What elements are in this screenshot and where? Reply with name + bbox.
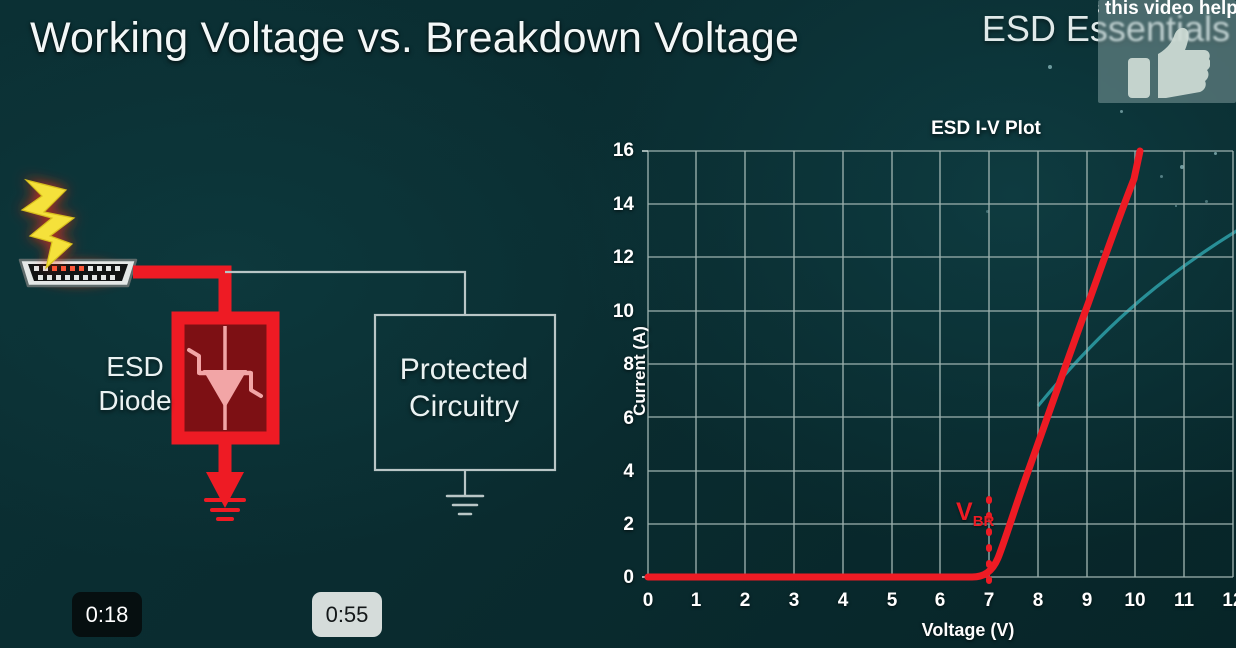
x-tick-0: 0 bbox=[628, 590, 668, 612]
vbr-subscript: BR bbox=[973, 513, 995, 530]
video-frame: Working Voltage vs. Breakdown Voltage ES… bbox=[0, 0, 1236, 648]
y-tick-16: 16 bbox=[596, 140, 634, 162]
protected-circuitry-label: Protected Circuitry bbox=[378, 352, 550, 425]
y-tick-4: 4 bbox=[596, 461, 634, 483]
hdmi-connector-icon bbox=[20, 260, 136, 286]
esd-current-path bbox=[133, 272, 225, 315]
esd-diode-block bbox=[178, 318, 273, 438]
lightning-bolt-icon bbox=[22, 180, 74, 268]
background-glow-arc bbox=[1038, 218, 1236, 406]
total-time-badge[interactable]: 0:55 bbox=[312, 592, 382, 637]
vbr-annotation: VBR bbox=[956, 500, 994, 529]
x-tick-9: 9 bbox=[1067, 590, 1107, 612]
survey-prompt: Was this video helpful? bbox=[1098, 0, 1236, 20]
x-tick-6: 6 bbox=[920, 590, 960, 612]
slide-title: Working Voltage vs. Breakdown Voltage bbox=[30, 14, 799, 63]
x-tick-12: 12 bbox=[1213, 590, 1236, 612]
signal-wire bbox=[225, 272, 465, 315]
x-axis-label: Voltage (V) bbox=[868, 620, 1068, 641]
x-tick-11: 11 bbox=[1164, 590, 1204, 612]
esd-diode-label: ESD Diode bbox=[80, 350, 190, 418]
esd-ground-path bbox=[206, 438, 244, 508]
y-tick-10: 10 bbox=[596, 301, 634, 323]
x-tick-7: 7 bbox=[969, 590, 1009, 612]
y-tick-8: 8 bbox=[596, 354, 634, 376]
y-tick-2: 2 bbox=[596, 514, 634, 536]
y-tick-14: 14 bbox=[596, 194, 634, 216]
thumbs-up-icon[interactable] bbox=[1126, 26, 1210, 100]
esd-iv-plot: Current (A) Voltage (V) 16 14 12 10 8 6 … bbox=[568, 106, 1236, 648]
y-tick-6: 6 bbox=[596, 408, 634, 430]
video-survey-overlay[interactable]: Was this video helpful? bbox=[1098, 0, 1236, 103]
x-tick-3: 3 bbox=[774, 590, 814, 612]
y-tick-12: 12 bbox=[596, 247, 634, 269]
plot-canvas bbox=[568, 106, 1236, 648]
x-tick-8: 8 bbox=[1018, 590, 1058, 612]
current-time-badge[interactable]: 0:18 bbox=[72, 592, 142, 637]
x-tick-10: 10 bbox=[1115, 590, 1155, 612]
x-tick-1: 1 bbox=[676, 590, 716, 612]
x-tick-5: 5 bbox=[872, 590, 912, 612]
protected-ground-symbol-icon bbox=[447, 496, 483, 514]
x-tick-4: 4 bbox=[823, 590, 863, 612]
circuit-diagram: ESD Diode Protected Circuitry bbox=[0, 160, 600, 560]
vbr-symbol: V bbox=[956, 498, 973, 526]
y-tick-0: 0 bbox=[596, 567, 634, 589]
x-tick-2: 2 bbox=[725, 590, 765, 612]
